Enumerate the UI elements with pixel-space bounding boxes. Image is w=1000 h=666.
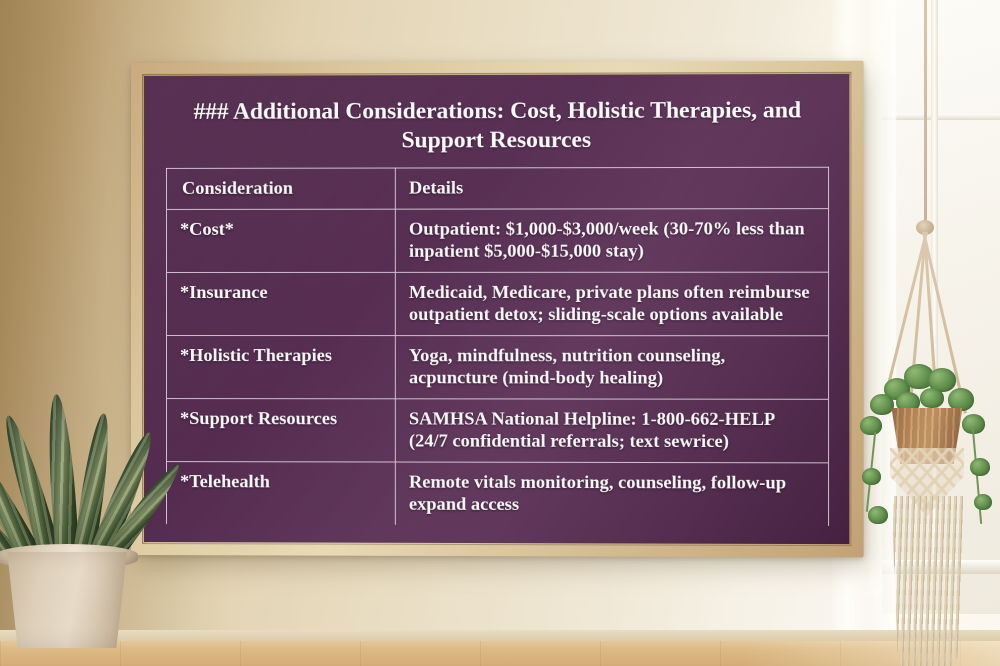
row-consideration-support-resources: *Support Resources <box>167 398 396 461</box>
row-details-cost: Outpatient: $1,000-$3,000/week (30-70% l… <box>395 208 828 272</box>
macrame-hanging-planter <box>862 0 992 516</box>
plant-leaf <box>868 506 888 524</box>
considerations-table: Consideration Details *Cost* Outpatient:… <box>166 167 829 526</box>
column-header-consideration: Consideration <box>167 168 396 209</box>
column-header-details: Details <box>395 168 828 209</box>
hanging-cord <box>924 0 927 224</box>
plant-leaf <box>948 388 974 411</box>
row-consideration-holistic-therapies: *Holistic Therapies <box>167 335 396 398</box>
row-consideration-insurance: *Insurance <box>167 272 396 335</box>
page-title: ### Additional Considerations: Cost, Hol… <box>166 96 829 155</box>
macrame-fringe <box>888 496 968 666</box>
terracotta-pot <box>2 552 132 648</box>
table-header-row: Consideration Details <box>167 168 829 210</box>
floor-sunlight <box>740 641 1000 666</box>
row-consideration-telehealth: *Telehealth <box>167 461 396 524</box>
framed-sign[interactable]: ### Additional Considerations: Cost, Hol… <box>131 61 864 558</box>
table-row: *Holistic Therapies Yoga, mindfulness, n… <box>167 335 829 399</box>
row-details-support-resources: SAMHSA National Helpline: 1-800-662-HELP… <box>395 399 828 463</box>
row-consideration-cost: *Cost* <box>167 209 396 272</box>
row-details-holistic-therapies: Yoga, mindfulness, nutrition counseling,… <box>395 335 828 399</box>
plant-leaf <box>970 458 990 476</box>
plant-leaf <box>974 494 992 510</box>
room-scene: ### Additional Considerations: Cost, Hol… <box>0 0 1000 666</box>
table-row: *Telehealth Remote vitals monitoring, co… <box>167 461 829 525</box>
sign-board: ### Additional Considerations: Cost, Hol… <box>144 74 849 544</box>
plant-leaf <box>920 388 944 408</box>
plant-leaf <box>862 468 881 485</box>
row-details-telehealth: Remote vitals monitoring, counseling, fo… <box>395 462 828 526</box>
plant-leaf <box>860 416 882 435</box>
table-row: *Insurance Medicaid, Medicare, private p… <box>167 272 829 336</box>
picture-frame: ### Additional Considerations: Cost, Hol… <box>131 61 864 558</box>
row-details-insurance: Medicaid, Medicare, private plans often … <box>395 272 828 336</box>
snake-plant <box>0 398 162 650</box>
table-row: *Support Resources SAMHSA National Helpl… <box>167 398 829 462</box>
table-row: *Cost* Outpatient: $1,000-$3,000/week (3… <box>167 208 829 272</box>
plant-leaf <box>870 394 894 415</box>
